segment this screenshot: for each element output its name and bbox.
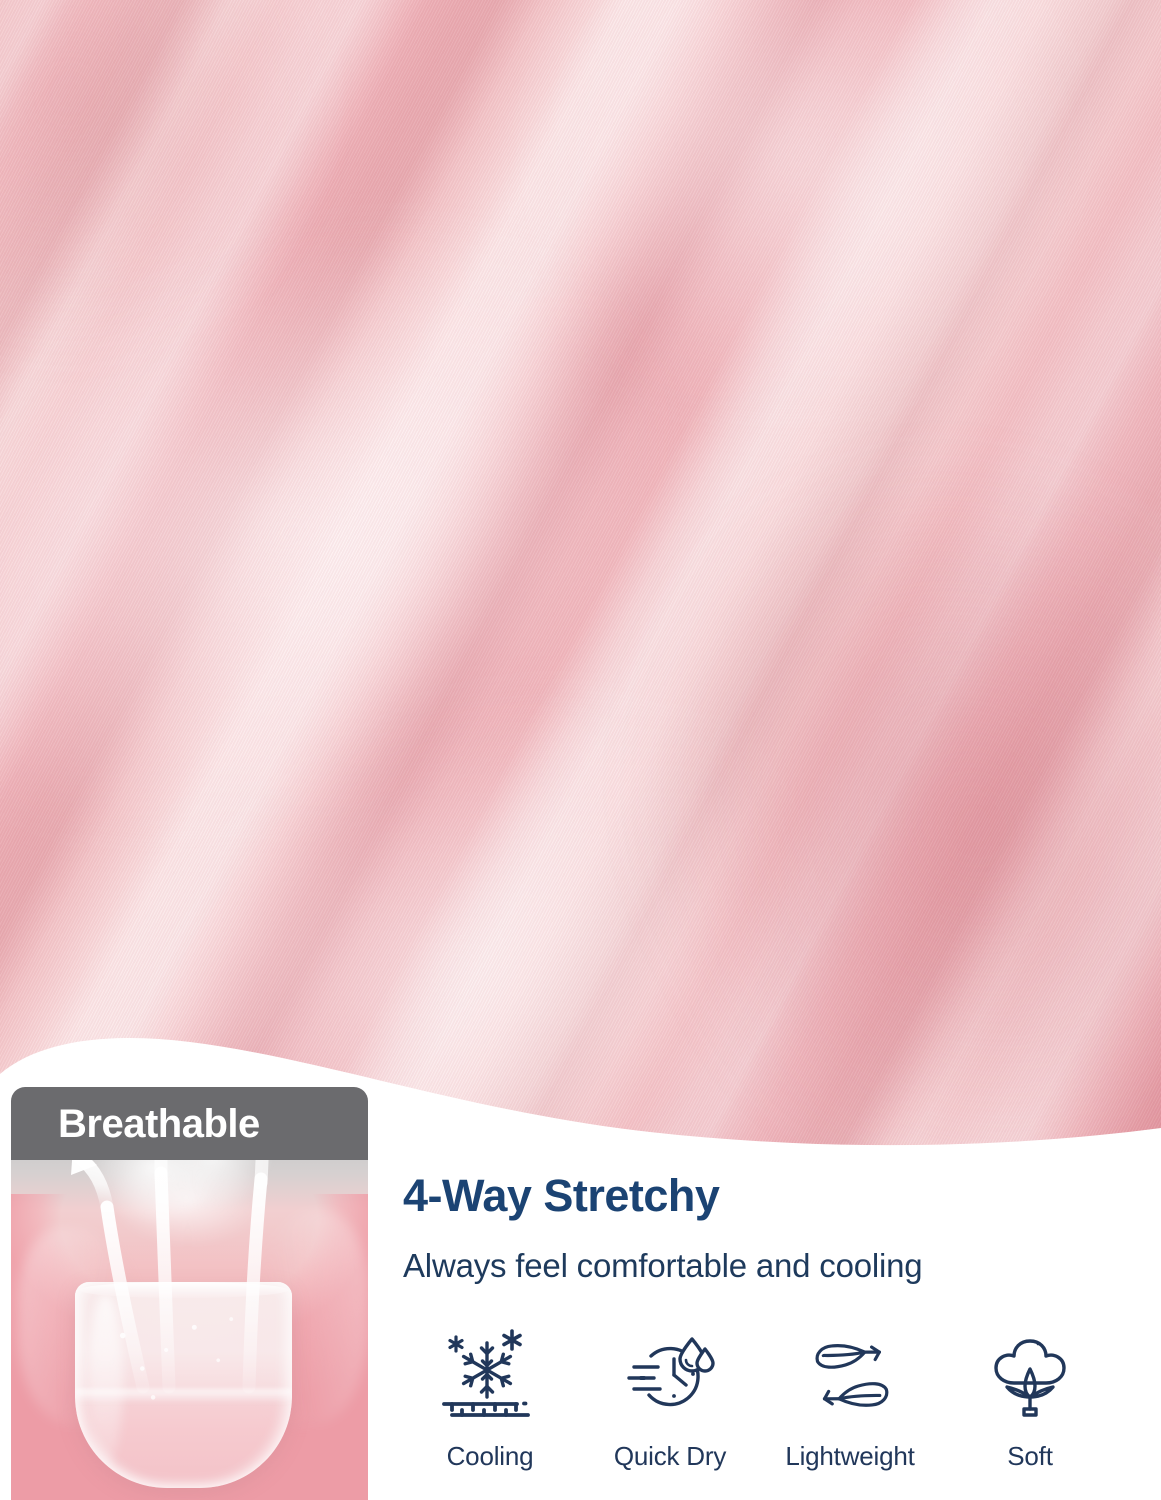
snowflake-icon	[438, 1325, 542, 1429]
fabric-hero-photo	[0, 0, 1161, 1180]
feature-label-soft: Soft	[1007, 1441, 1052, 1472]
feathers-icon	[798, 1325, 902, 1429]
feature-lightweight: Lightweight	[760, 1325, 940, 1472]
cotton-boll-icon	[978, 1325, 1082, 1429]
breathable-badge: Breathable	[11, 1087, 368, 1160]
feature-quick-dry: Quick Dry	[580, 1325, 760, 1472]
breathable-inset-card: Breathable	[11, 1087, 368, 1500]
breathable-badge-label: Breathable	[11, 1104, 260, 1144]
feature-cooling: Cooling	[400, 1325, 580, 1472]
subheadline: Always feel comfortable and cooling	[403, 1246, 1103, 1286]
feature-row: Cooling	[400, 1325, 1120, 1472]
feature-soft: Soft	[940, 1325, 1120, 1472]
clock-droplet-icon	[618, 1325, 722, 1429]
feature-label-lightweight: Lightweight	[785, 1441, 914, 1472]
product-marketing-image: Breathable 4-Way Stretchy Always feel co…	[0, 0, 1161, 1500]
fabric-weave-texture	[0, 0, 1161, 1180]
feature-label-quick-dry: Quick Dry	[614, 1441, 726, 1472]
headline: 4-Way Stretchy	[403, 1172, 1103, 1220]
feature-label-cooling: Cooling	[447, 1441, 534, 1472]
copy-block: 4-Way Stretchy Always feel comfortable a…	[403, 1172, 1103, 1285]
airflow-arrow-left	[71, 1147, 143, 1387]
